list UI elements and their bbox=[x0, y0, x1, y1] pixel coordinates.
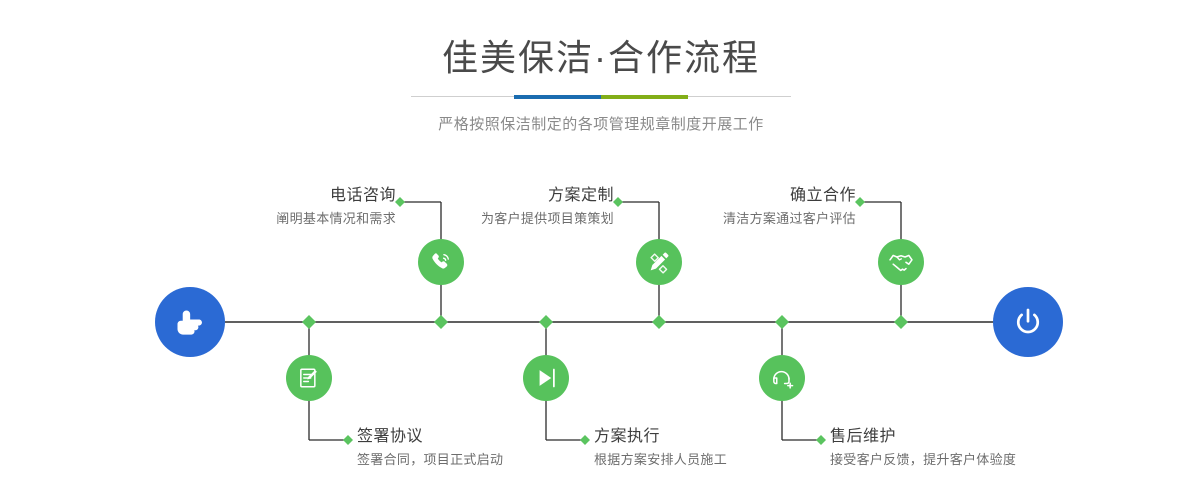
play-execute-icon bbox=[532, 364, 560, 392]
pencil-ruler-icon bbox=[645, 248, 673, 276]
step-6-desc: 接受客户反馈，提升客户体验度 bbox=[830, 450, 1120, 469]
step-4-desc: 根据方案安排人员施工 bbox=[594, 450, 854, 469]
step-2-label-marker bbox=[343, 435, 353, 445]
spine-diamond-4 bbox=[652, 315, 666, 329]
handshake-icon bbox=[886, 247, 916, 277]
step-2-desc: 签署合同，项目正式启动 bbox=[357, 450, 617, 469]
step-node-2[interactable] bbox=[286, 355, 332, 401]
step-node-6[interactable] bbox=[759, 355, 805, 401]
power-icon bbox=[1010, 304, 1046, 340]
step-label-6: 售后维护 接受客户反馈，提升客户体验度 bbox=[830, 427, 1120, 469]
step-3-title: 方案定制 bbox=[364, 186, 614, 206]
spine-diamond-2 bbox=[434, 315, 448, 329]
step-label-2: 签署协议 签署合同，项目正式启动 bbox=[357, 427, 617, 469]
step-5-label-marker bbox=[855, 197, 865, 207]
step-6-title: 售后维护 bbox=[830, 427, 1120, 447]
headset-support-icon bbox=[768, 364, 796, 392]
spine-diamond-1 bbox=[302, 315, 316, 329]
step-label-4: 方案执行 根据方案安排人员施工 bbox=[594, 427, 854, 469]
step-3-desc: 为客户提供项目策策划 bbox=[364, 209, 614, 228]
step-1-title: 电话咨询 bbox=[146, 186, 396, 206]
step-4-title: 方案执行 bbox=[594, 427, 854, 447]
spine-diamond-5 bbox=[775, 315, 789, 329]
step-label-1: 电话咨询 阐明基本情况和需求 bbox=[146, 186, 396, 228]
step-1-desc: 阐明基本情况和需求 bbox=[146, 209, 396, 228]
phone-call-icon bbox=[427, 248, 455, 276]
flow-diagram-page: 佳美保洁·合作流程 严格按照保洁制定的各项管理规章制度开展工作 bbox=[0, 0, 1202, 502]
step-node-4[interactable] bbox=[523, 355, 569, 401]
flow-end-node[interactable] bbox=[993, 287, 1063, 357]
document-sign-icon bbox=[295, 364, 323, 392]
spine-diamond-6 bbox=[894, 315, 908, 329]
step-5-desc: 清洁方案通过客户评估 bbox=[606, 209, 856, 228]
step-node-5[interactable] bbox=[878, 239, 924, 285]
step-node-3[interactable] bbox=[636, 239, 682, 285]
flow-start-node[interactable] bbox=[155, 287, 225, 357]
spine-diamond-3 bbox=[539, 315, 553, 329]
step-label-5: 确立合作 清洁方案通过客户评估 bbox=[606, 186, 856, 228]
step-2-title: 签署协议 bbox=[357, 427, 617, 447]
step-label-3: 方案定制 为客户提供项目策策划 bbox=[364, 186, 614, 228]
pointing-hand-icon bbox=[171, 303, 209, 341]
step-node-1[interactable] bbox=[418, 239, 464, 285]
step-5-title: 确立合作 bbox=[606, 186, 856, 206]
